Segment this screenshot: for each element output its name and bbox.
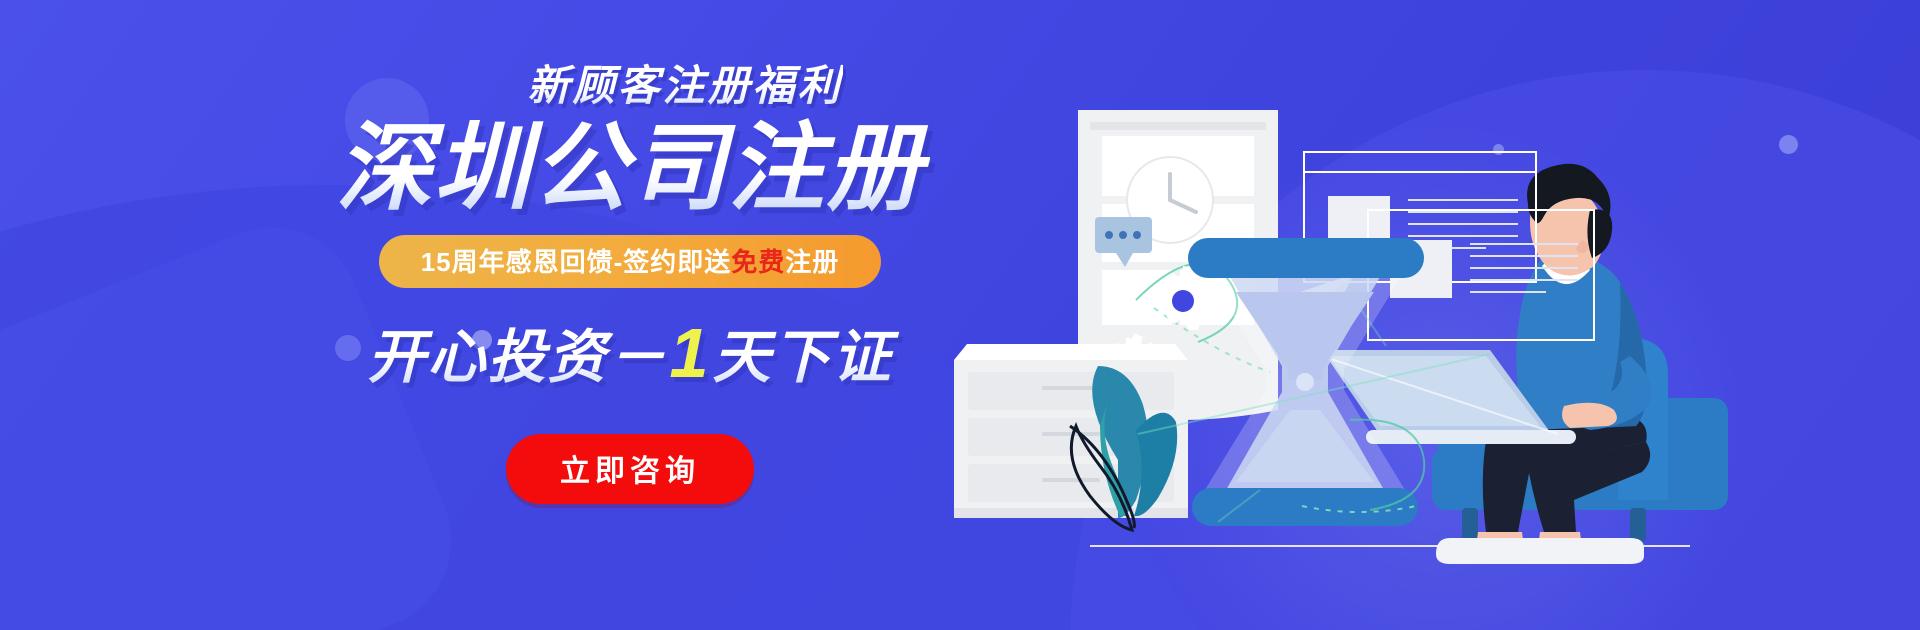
promo-highlight: 免费: [731, 247, 785, 277]
tagline-number: 1: [668, 314, 713, 392]
promo-banner: 新顾客注册福利 深圳公司注册 15周年感恩回馈-签约即送免费注册 开心投资－1天…: [0, 0, 1920, 630]
promo-suffix: 注册: [785, 247, 839, 277]
promo-prefix: 15周年感恩回馈-签约即送: [421, 247, 732, 277]
consult-now-button[interactable]: 立即咨询: [506, 434, 754, 504]
tagline-prefix: 开心投资－: [368, 325, 668, 390]
banner-copy: 新顾客注册福利 深圳公司注册 15周年感恩回馈-签约即送免费注册 开心投资－1天…: [330, 52, 930, 504]
banner-headline: 深圳公司注册: [330, 117, 930, 221]
illustration: [930, 70, 1920, 570]
banner-kicker: 新顾客注册福利: [527, 52, 842, 113]
tagline-suffix: 天下证: [712, 325, 892, 390]
banner-tagline: 开心投资－1天下证: [330, 310, 930, 394]
promo-pill: 15周年感恩回馈-签约即送免费注册: [379, 235, 882, 288]
